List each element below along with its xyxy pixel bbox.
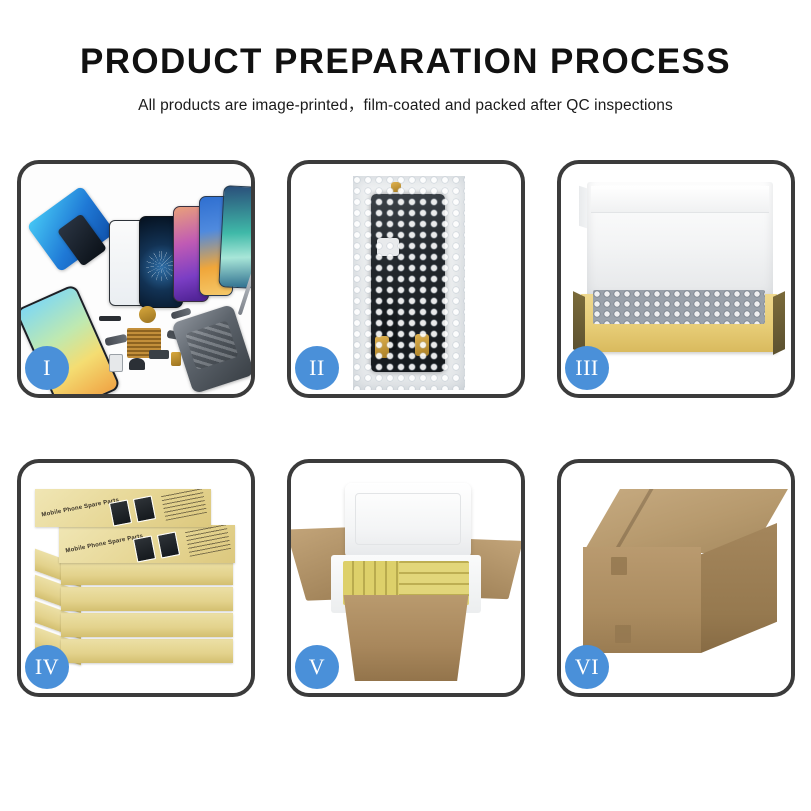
camera-module-part — [129, 358, 145, 370]
process-step-3[interactable]: III — [557, 160, 795, 398]
step-6-badge: VI — [565, 645, 609, 689]
speaker-part — [99, 316, 121, 321]
carton-front-face — [583, 547, 701, 653]
page-header: PRODUCT PREPARATION PROCESS All products… — [0, 0, 811, 115]
carton-front-wall — [335, 595, 477, 681]
bubble-texture — [353, 176, 465, 390]
step-1-badge: I — [25, 346, 69, 390]
crack-pattern — [146, 251, 176, 281]
step-2-badge: II — [295, 346, 339, 390]
step-3-badge: III — [565, 346, 609, 390]
process-step-grid: I II — [17, 160, 795, 697]
process-step-1[interactable]: I — [17, 160, 255, 398]
teal-curved-phone — [218, 185, 251, 289]
white-box-lid — [587, 182, 773, 302]
phone-back-housing — [171, 304, 251, 394]
carton-tape-lower — [615, 625, 631, 643]
stack-box-f4 — [61, 561, 233, 585]
step-4-badge: IV — [25, 645, 69, 689]
step-5-badge: V — [295, 645, 339, 689]
page-subtitle: All products are image-printed，film-coat… — [0, 93, 811, 115]
process-step-2[interactable]: II — [287, 160, 525, 398]
sim-tray-part — [109, 354, 123, 372]
stack-box-f1 — [61, 639, 233, 663]
carton-tape-upper — [611, 557, 627, 575]
stack-box-labeled-top: Mobile Phone Spare Parts — [35, 489, 211, 527]
gold-contact-part — [171, 352, 181, 366]
bubble-wrap-padding — [593, 290, 765, 324]
page-title: PRODUCT PREPARATION PROCESS — [0, 44, 811, 79]
stack-box-labeled-lower: Mobile Phone Spare Parts — [59, 525, 235, 563]
process-step-6[interactable]: VI — [557, 459, 795, 697]
process-step-4[interactable]: Mobile Phone Spare Parts Mobile Phone Sp… — [17, 459, 255, 697]
vibrator-part — [149, 350, 169, 359]
bubble-wrap-bag — [353, 176, 465, 390]
stack-box-f3 — [61, 587, 233, 611]
gold-coin-part — [139, 306, 156, 323]
foam-box-lid — [345, 483, 471, 559]
stack-box-f2 — [61, 613, 233, 637]
flex-cable-part-1 — [104, 334, 127, 346]
process-step-5[interactable]: V — [287, 459, 525, 697]
